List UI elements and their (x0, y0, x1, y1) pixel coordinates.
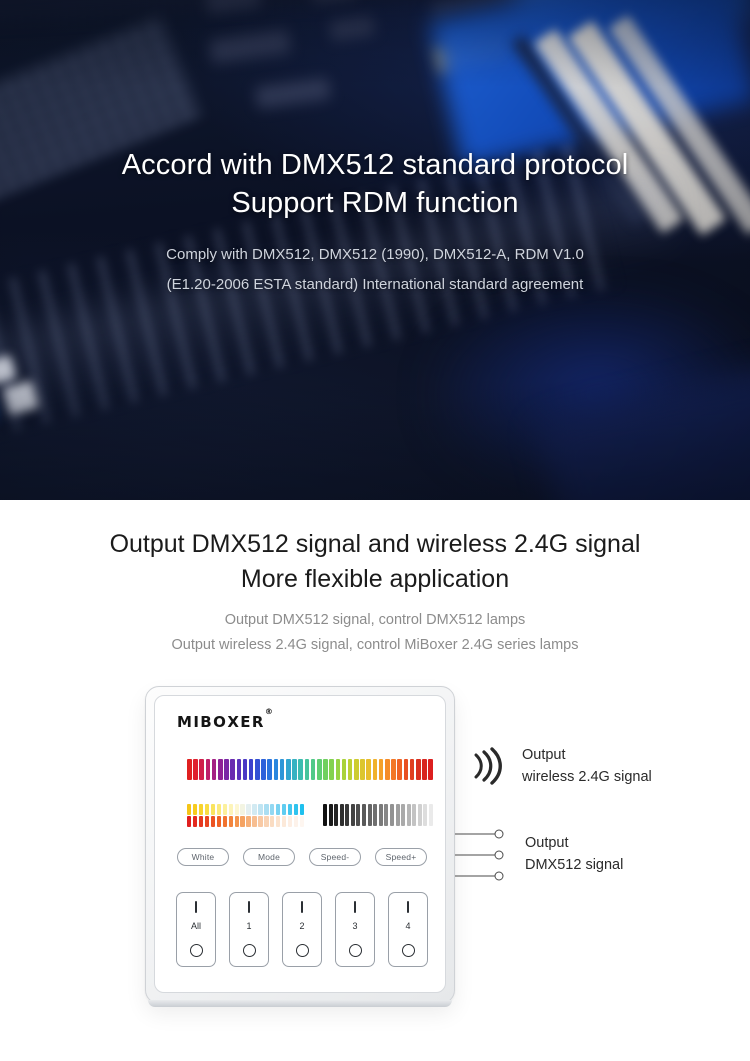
color-bar-segment[interactable] (311, 759, 316, 780)
power-off-icon[interactable] (243, 944, 256, 957)
color-bar-segment[interactable] (298, 759, 303, 780)
hero-subtext-line-1: Comply with DMX512, DMX512 (1990), DMX51… (0, 240, 750, 270)
cct-bar-segment[interactable] (288, 816, 292, 827)
power-on-icon[interactable] (248, 901, 250, 913)
color-bar-segment[interactable] (206, 759, 211, 780)
zone-button-label: All (177, 921, 215, 931)
lower-subtext-line-1: Output DMX512 signal, control DMX512 lam… (0, 608, 750, 633)
power-on-icon[interactable] (407, 901, 409, 913)
brightness-bar-segment[interactable] (407, 804, 411, 826)
color-bar-segment[interactable] (373, 759, 378, 780)
brightness-bar-segment[interactable] (423, 804, 427, 826)
color-bar-segment[interactable] (243, 759, 248, 780)
brightness-bar-segment[interactable] (379, 804, 383, 826)
lower-heading-line-2: More flexible application (0, 562, 750, 597)
logo-text-o: O (213, 713, 227, 731)
brightness-bar-segment[interactable] (401, 804, 405, 826)
power-on-icon[interactable] (354, 901, 356, 913)
cct-touch-bar[interactable] (187, 804, 304, 827)
brightness-bar-segment[interactable] (412, 804, 416, 826)
cct-bar-segment[interactable] (211, 816, 215, 827)
brightness-bar-segment[interactable] (340, 804, 344, 826)
color-bar-segment[interactable] (199, 759, 204, 780)
device-illustration: MIBOXER® WhiteModeSpeed-Speed+ All1234 (0, 686, 750, 1016)
cct-bar-segment[interactable] (270, 804, 274, 815)
brightness-bar-segment[interactable] (334, 804, 338, 826)
hero-text-block: Accord with DMX512 standard protocol Sup… (0, 0, 750, 300)
cct-bar-segment[interactable] (187, 804, 191, 815)
cct-bar-segment[interactable] (229, 816, 233, 827)
cct-bar-segment[interactable] (282, 804, 286, 815)
logo-text-prefix: MIB (177, 713, 213, 731)
dmx-annotation-line-2: DMX512 signal (525, 854, 623, 876)
miboxer-logo: MIBOXER® (177, 713, 273, 731)
cct-bar-segment[interactable] (229, 804, 233, 815)
registered-trademark-icon: ® (265, 707, 273, 716)
cct-bar-segment[interactable] (264, 804, 268, 815)
cct-bar-segment[interactable] (205, 804, 209, 815)
color-bar-segment[interactable] (366, 759, 371, 780)
brightness-bar-segment[interactable] (351, 804, 355, 826)
color-bar-segment[interactable] (218, 759, 223, 780)
color-bar-segment[interactable] (224, 759, 229, 780)
zone-button-all[interactable]: All (176, 892, 216, 967)
cct-bar-segment[interactable] (294, 816, 298, 827)
cct-bar-segment[interactable] (270, 816, 274, 827)
dmx-annotation-line-1: Output (525, 832, 623, 854)
color-bar-segment[interactable] (286, 759, 291, 780)
brightness-bar-segment[interactable] (384, 804, 388, 826)
color-bar-segment[interactable] (230, 759, 235, 780)
power-on-icon[interactable] (195, 901, 197, 913)
brightness-bar-segment[interactable] (368, 804, 372, 826)
brightness-bar-segment[interactable] (390, 804, 394, 826)
color-bar-segment[interactable] (329, 759, 334, 780)
brightness-bar-segment[interactable] (323, 804, 327, 826)
color-bar-segment[interactable] (336, 759, 341, 780)
cct-bar-segment[interactable] (252, 816, 256, 827)
cct-bar-segment[interactable] (282, 816, 286, 827)
color-wheel-touch-bar[interactable] (187, 759, 433, 780)
wireless-annotation-line-1: Output (522, 744, 652, 766)
cct-bar-segment[interactable] (187, 816, 191, 827)
color-bar-segment[interactable] (323, 759, 328, 780)
logo-ox-mark: O (213, 713, 227, 731)
function-button-mode[interactable]: Mode (243, 848, 295, 866)
brightness-bar-segment[interactable] (373, 804, 377, 826)
lower-subtext: Output DMX512 signal, control DMX512 lam… (0, 608, 750, 658)
cct-bar-segment[interactable] (258, 804, 262, 815)
zone-button-2[interactable]: 2 (282, 892, 322, 967)
color-bar-segment[interactable] (348, 759, 353, 780)
color-bar-segment[interactable] (237, 759, 242, 780)
wireless-annotation-text: Output wireless 2.4G signal (522, 744, 652, 788)
color-bar-segment[interactable] (249, 759, 254, 780)
cct-bar-segment[interactable] (193, 816, 197, 827)
brightness-bar-segment[interactable] (429, 804, 433, 826)
color-bar-segment[interactable] (187, 759, 192, 780)
cct-bar-segment[interactable] (217, 804, 221, 815)
cct-bar-segment[interactable] (223, 816, 227, 827)
control-panel-bezel: MIBOXER® WhiteModeSpeed-Speed+ All1234 (145, 686, 455, 1004)
cct-bar-segment[interactable] (235, 816, 239, 827)
color-bar-segment[interactable] (404, 759, 409, 780)
power-on-icon[interactable] (301, 901, 303, 913)
brightness-bar-segment[interactable] (396, 804, 400, 826)
color-bar-segment[interactable] (354, 759, 359, 780)
zone-button-label: 2 (283, 921, 321, 931)
color-bar-segment[interactable] (422, 759, 427, 780)
color-bar-segment[interactable] (274, 759, 279, 780)
brightness-bar-segment[interactable] (362, 804, 366, 826)
dmx-annotation: Output DMX512 signal (455, 826, 745, 896)
function-button-speed[interactable]: Speed- (309, 848, 361, 866)
power-off-icon[interactable] (190, 944, 203, 957)
color-bar-segment[interactable] (255, 759, 260, 780)
brightness-touch-bar[interactable] (323, 804, 433, 826)
hero-heading-line-1: Accord with DMX512 standard protocol (0, 0, 750, 184)
color-bar-segment[interactable] (280, 759, 285, 780)
wireless-signal-icon (470, 746, 504, 786)
cct-bar-segment[interactable] (199, 804, 203, 815)
color-bar-segment[interactable] (410, 759, 415, 780)
cct-bar-segment[interactable] (240, 816, 244, 827)
zone-button-1[interactable]: 1 (229, 892, 269, 967)
hero-heading-line-2: Support RDM function (0, 184, 750, 222)
cct-bar-segment[interactable] (288, 804, 292, 815)
color-bar-segment[interactable] (397, 759, 402, 780)
function-button-speed[interactable]: Speed+ (375, 848, 427, 866)
color-bar-segment[interactable] (212, 759, 217, 780)
cct-bar-row-top[interactable] (187, 804, 304, 815)
power-off-icon[interactable] (296, 944, 309, 957)
zone-button-3[interactable]: 3 (335, 892, 375, 967)
function-button-white[interactable]: White (177, 848, 229, 866)
cct-bar-segment[interactable] (276, 804, 280, 815)
color-bar-segment[interactable] (416, 759, 421, 780)
cct-bar-segment[interactable] (199, 816, 203, 827)
cct-bar-segment[interactable] (205, 816, 209, 827)
cct-bar-segment[interactable] (294, 804, 298, 815)
color-bar-segment[interactable] (385, 759, 390, 780)
cct-bar-segment[interactable] (193, 804, 197, 815)
zone-button-4[interactable]: 4 (388, 892, 428, 967)
cct-bar-segment[interactable] (246, 804, 250, 815)
function-button-row: WhiteModeSpeed-Speed+ (177, 848, 427, 866)
zone-button-label: 3 (336, 921, 374, 931)
cct-bar-segment[interactable] (252, 804, 256, 815)
color-bar-segment[interactable] (267, 759, 272, 780)
lower-text-block: Output DMX512 signal and wireless 2.4G s… (0, 500, 750, 658)
cct-bar-segment[interactable] (264, 816, 268, 827)
brightness-bar-segment[interactable] (356, 804, 360, 826)
power-off-icon[interactable] (402, 944, 415, 957)
control-panel-face: MIBOXER® WhiteModeSpeed-Speed+ All1234 (154, 695, 446, 993)
color-bar-segment[interactable] (305, 759, 310, 780)
color-bar-segment[interactable] (317, 759, 322, 780)
hero-section: Accord with DMX512 standard protocol Sup… (0, 0, 750, 500)
logo-text-x: X (227, 713, 240, 731)
dmx-terminal-lines-icon (455, 826, 505, 896)
hero-subtext: Comply with DMX512, DMX512 (1990), DMX51… (0, 240, 750, 300)
cct-bar-segment[interactable] (246, 816, 250, 827)
wireless-annotation: Output wireless 2.4G signal (470, 744, 652, 788)
color-bar-segment[interactable] (379, 759, 384, 780)
color-bar-segment[interactable] (193, 759, 198, 780)
color-bar-segment[interactable] (428, 759, 433, 780)
cct-bar-segment[interactable] (240, 804, 244, 815)
cct-bar-segment[interactable] (276, 816, 280, 827)
cct-bar-segment[interactable] (258, 816, 262, 827)
hero-heading: Accord with DMX512 standard protocol Sup… (0, 0, 750, 222)
cct-bar-segment[interactable] (235, 804, 239, 815)
cct-bar-segment[interactable] (217, 816, 221, 827)
brightness-bar-segment[interactable] (329, 804, 333, 826)
zone-button-label: 1 (230, 921, 268, 931)
zone-button-row: All1234 (176, 892, 428, 967)
cct-bar-segment[interactable] (300, 816, 304, 827)
cct-bar-segment[interactable] (223, 804, 227, 815)
color-bar-segment[interactable] (261, 759, 266, 780)
zone-button-label: 4 (389, 921, 427, 931)
color-bar-segment[interactable] (292, 759, 297, 780)
color-bar-segment[interactable] (391, 759, 396, 780)
cct-bar-row-bottom[interactable] (187, 816, 304, 827)
lower-heading: Output DMX512 signal and wireless 2.4G s… (0, 527, 750, 597)
color-bar-segment[interactable] (360, 759, 365, 780)
power-off-icon[interactable] (349, 944, 362, 957)
brightness-bar-segment[interactable] (345, 804, 349, 826)
brightness-bar-segment[interactable] (418, 804, 422, 826)
color-bar-segment[interactable] (342, 759, 347, 780)
cct-bar-segment[interactable] (211, 804, 215, 815)
cct-bar-segment[interactable] (300, 804, 304, 815)
wireless-annotation-line-2: wireless 2.4G signal (522, 766, 652, 788)
dmx-annotation-text: Output DMX512 signal (525, 832, 623, 876)
hero-subtext-line-2: (E1.20-2006 ESTA standard) International… (0, 270, 750, 300)
lower-heading-line-1: Output DMX512 signal and wireless 2.4G s… (0, 527, 750, 562)
lower-subtext-line-2: Output wireless 2.4G signal, control MiB… (0, 633, 750, 658)
logo-text-suffix: ER (240, 713, 265, 731)
